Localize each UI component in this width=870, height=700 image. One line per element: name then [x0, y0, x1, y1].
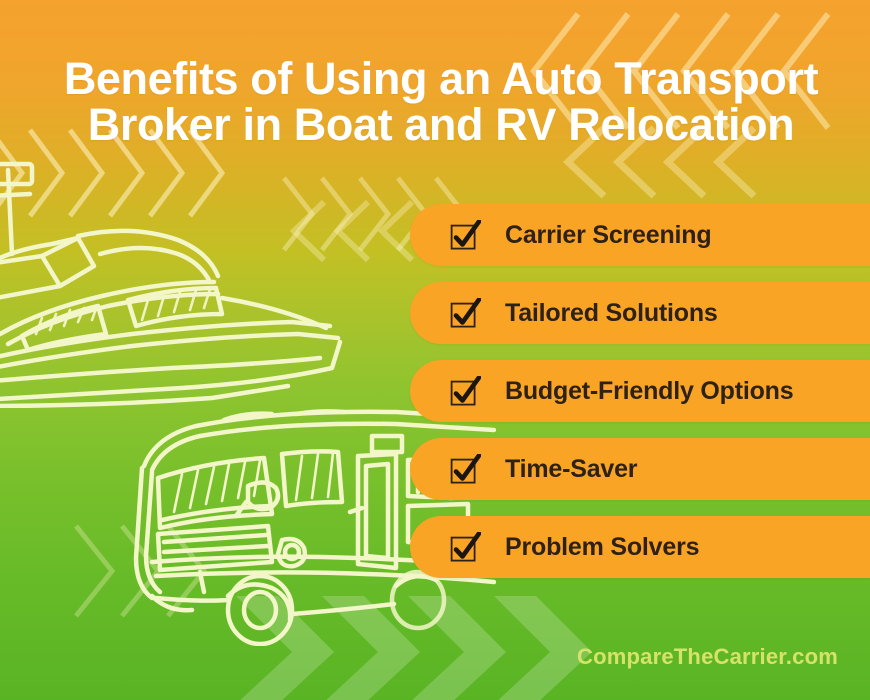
checklist-item-5[interactable]: Problem Solvers [410, 516, 870, 578]
checklist-label: Problem Solvers [505, 533, 699, 562]
page-title: Benefits of Using an Auto Transport Brok… [26, 56, 856, 149]
checkbox-checked-icon [450, 220, 481, 251]
checklist-label: Tailored Solutions [505, 299, 718, 328]
checkbox-checked-icon [450, 532, 481, 563]
checklist-item-1[interactable]: Carrier Screening [410, 204, 870, 266]
checklist-item-4[interactable]: Time-Saver [410, 438, 870, 500]
checkbox-checked-icon [450, 376, 481, 407]
checklist-label: Carrier Screening [505, 221, 711, 250]
infographic-canvas: Benefits of Using an Auto Transport Brok… [0, 0, 870, 700]
brand-url[interactable]: CompareTheCarrier.com [577, 644, 838, 670]
page-title-line-2: Broker in Boat and RV Relocation [26, 102, 856, 148]
checkbox-checked-icon [450, 454, 481, 485]
boat-illustration [0, 158, 382, 408]
chevron-pattern-bottom-left [70, 516, 270, 626]
checkbox-checked-icon [450, 298, 481, 329]
checklist-label: Time-Saver [505, 455, 637, 484]
page-title-line-1: Benefits of Using an Auto Transport [26, 56, 856, 102]
checklist-item-3[interactable]: Budget-Friendly Options [410, 360, 870, 422]
checklist-item-2[interactable]: Tailored Solutions [410, 282, 870, 344]
chevron-pattern-bottom-solid [236, 574, 656, 700]
checklist-label: Budget-Friendly Options [505, 377, 793, 406]
